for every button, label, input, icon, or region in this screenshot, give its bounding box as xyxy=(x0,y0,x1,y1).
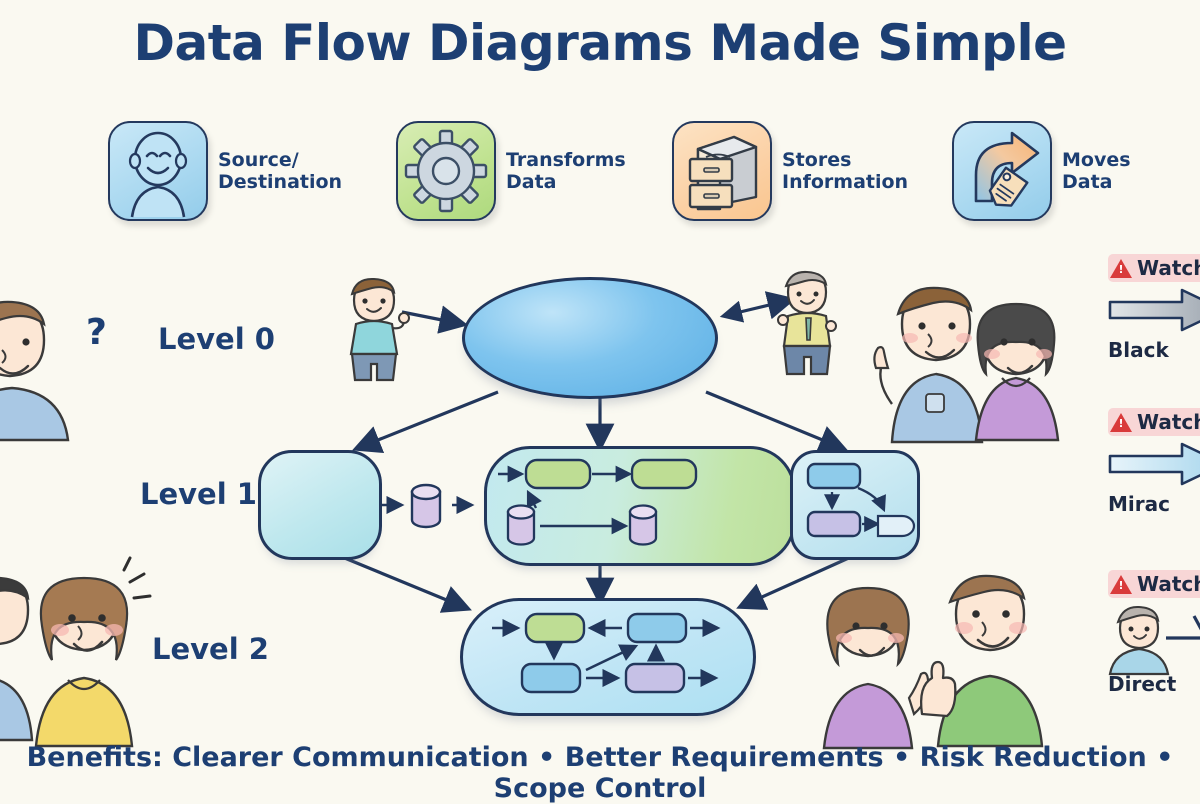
person-crossed-out-icon xyxy=(1108,602,1200,674)
small-man-tie xyxy=(770,268,842,380)
level-1-flow-to-store xyxy=(380,470,500,540)
level-1-process-group-contents xyxy=(484,446,790,560)
watch-out-card-black-box[interactable]: Watch Black xyxy=(1108,254,1200,362)
level-0-context-process[interactable] xyxy=(462,277,718,399)
warning-triangle-icon xyxy=(1110,259,1132,278)
watch-out-caption: Black xyxy=(1108,338,1200,362)
warning-triangle-icon xyxy=(1110,413,1132,432)
gray-arrow-icon xyxy=(1108,286,1200,334)
infographic-canvas: Data Flow Diagrams Made Simple Source/ D… xyxy=(0,0,1200,800)
warning-label: Watch xyxy=(1137,572,1200,596)
warning-badge: Watch xyxy=(1108,408,1200,436)
woman-purple-top xyxy=(958,290,1078,440)
warning-label: Watch xyxy=(1137,256,1200,280)
watch-out-caption: Mirac xyxy=(1108,492,1200,516)
waving-boy xyxy=(336,276,412,386)
warning-label: Watch xyxy=(1137,410,1200,434)
blue-arrow-icon xyxy=(1108,440,1200,488)
watch-out-caption: Direct xyxy=(1108,672,1200,696)
warning-badge: Watch xyxy=(1108,254,1200,282)
watch-out-card-miracle[interactable]: Watch Mirac xyxy=(1108,408,1200,516)
level-1-subprocess-contents xyxy=(790,450,914,554)
woman-yellow-idea xyxy=(22,556,152,746)
level-1-external-entity[interactable] xyxy=(258,450,382,560)
watch-out-card-direct-access[interactable]: Watch Direct xyxy=(1108,570,1200,696)
confused-man-left xyxy=(0,280,90,440)
warning-triangle-icon xyxy=(1110,575,1132,594)
warning-badge: Watch xyxy=(1108,570,1200,598)
benefits-bar: Benefits: Clearer Communication • Better… xyxy=(0,742,1200,804)
level-2-process-contents xyxy=(460,598,750,710)
thumbs-up-man-green xyxy=(920,556,1070,746)
